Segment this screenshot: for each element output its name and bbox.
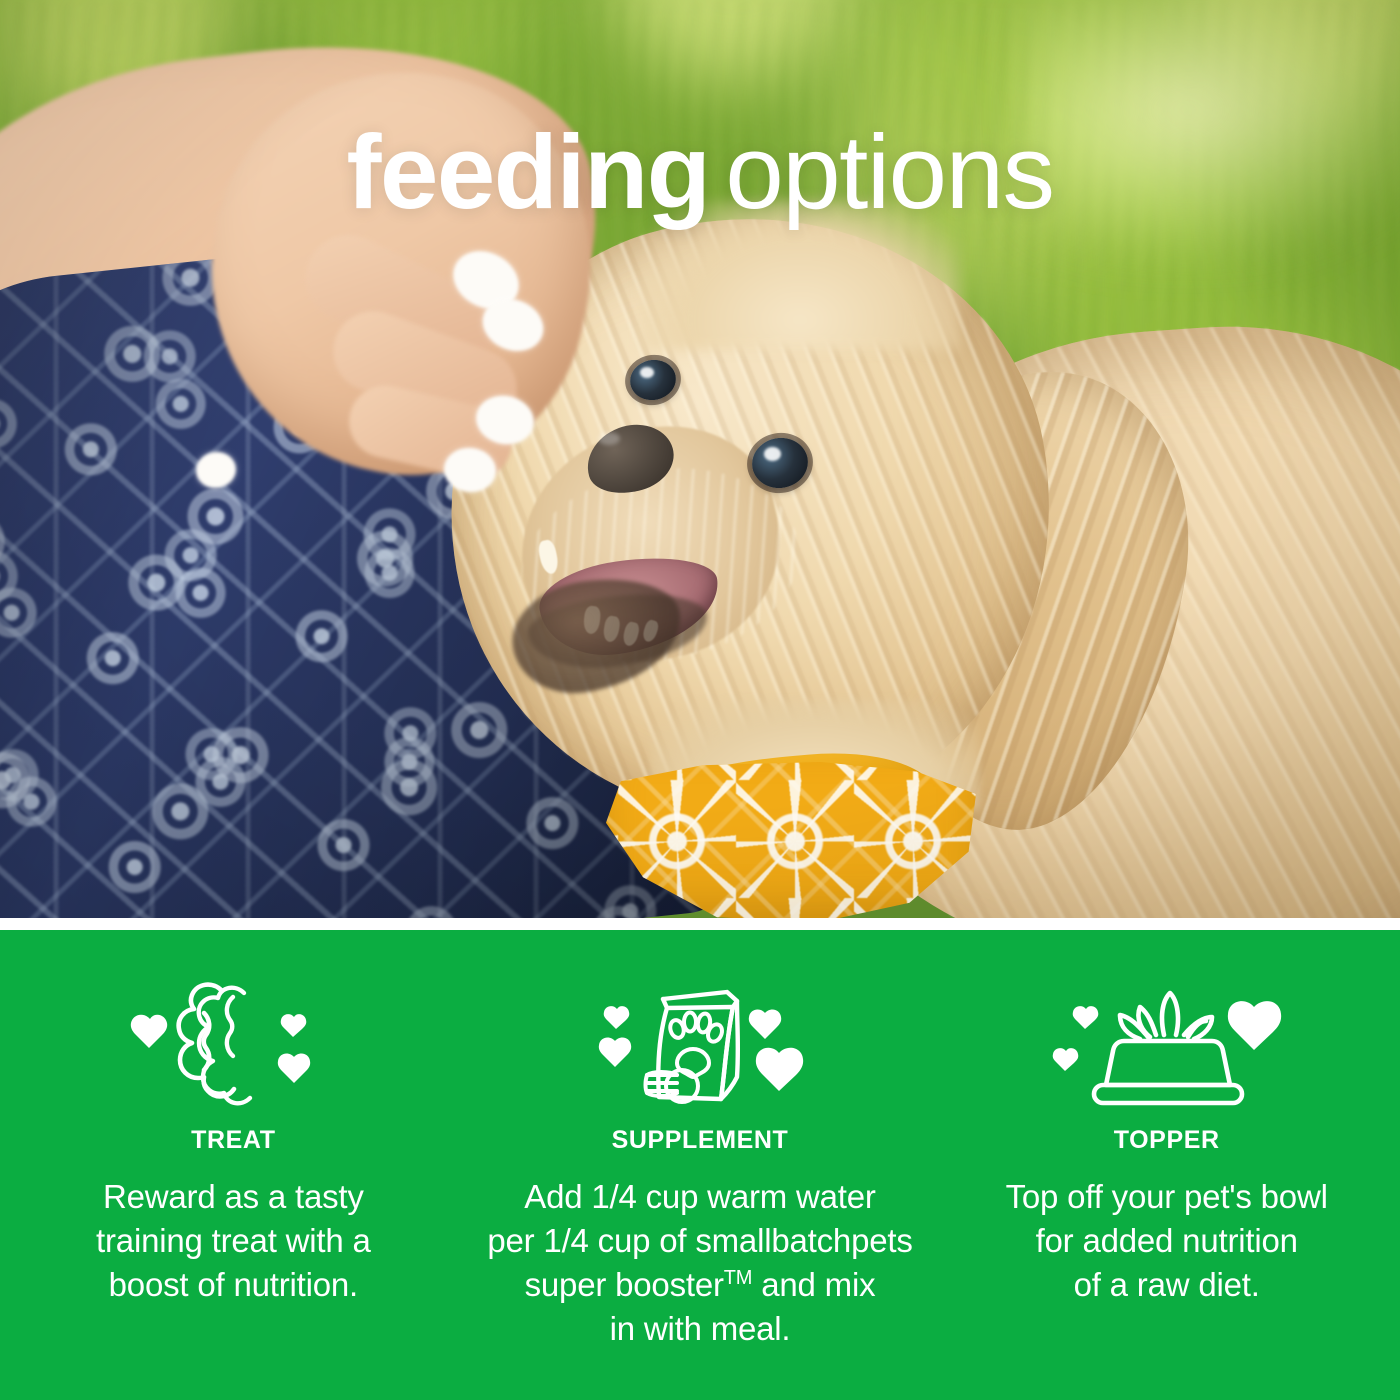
- feeding-options-infographic: feedingoptions: [0, 0, 1400, 1400]
- option-column-supplement: SUPPLEMENT Add 1/4 cup warm water per 1/…: [467, 930, 934, 1351]
- supplement-icon-wrap: [585, 968, 815, 1118]
- option-body-treat: Reward as a tasty training treat with a …: [96, 1175, 371, 1307]
- option-title-supplement: SUPPLEMENT: [612, 1126, 789, 1155]
- title-word-options: options: [725, 114, 1053, 231]
- heart-icon: [131, 1015, 167, 1048]
- supplement-bag-icon: [585, 973, 815, 1113]
- feeding-options-panel: TREAT Reward as a tasty training treat w…: [0, 930, 1400, 1400]
- option-body-supplement: Add 1/4 cup warm water per 1/4 cup of sm…: [487, 1175, 912, 1351]
- option-title-topper: TOPPER: [1114, 1126, 1220, 1155]
- trademark-symbol: TM: [724, 1267, 752, 1289]
- heart-icon: [749, 1010, 781, 1039]
- dog-eye-highlight: [764, 447, 781, 461]
- treat-icon-wrap: [118, 968, 348, 1118]
- option-column-treat: TREAT Reward as a tasty training treat w…: [0, 930, 467, 1307]
- heart-icon: [599, 1038, 631, 1067]
- options-columns: TREAT Reward as a tasty training treat w…: [0, 930, 1400, 1400]
- heart-icon: [1228, 1001, 1281, 1050]
- heart-icon: [756, 1048, 803, 1091]
- option-body-topper: Top off your pet's bowl for added nutrit…: [1006, 1175, 1328, 1307]
- topper-icon-wrap: [1052, 968, 1282, 1118]
- dog-bone-treat-icon: [118, 973, 348, 1113]
- page-title: feedingoptions: [0, 118, 1400, 228]
- option-title-treat: TREAT: [191, 1126, 275, 1155]
- heart-icon: [1072, 1006, 1098, 1029]
- dog-nose-highlight: [598, 432, 620, 445]
- heart-icon: [281, 1014, 307, 1037]
- hero-photo: feedingoptions: [0, 0, 1400, 918]
- heart-icon: [604, 1006, 630, 1029]
- dog-eye-highlight: [640, 367, 654, 378]
- option-column-topper: TOPPER Top off your pet's bowl for added…: [933, 930, 1400, 1307]
- title-word-feeding: feeding: [347, 114, 710, 231]
- heart-icon: [278, 1054, 310, 1083]
- heart-icon: [1052, 1048, 1078, 1071]
- food-bowl-topper-icon: [1052, 973, 1282, 1113]
